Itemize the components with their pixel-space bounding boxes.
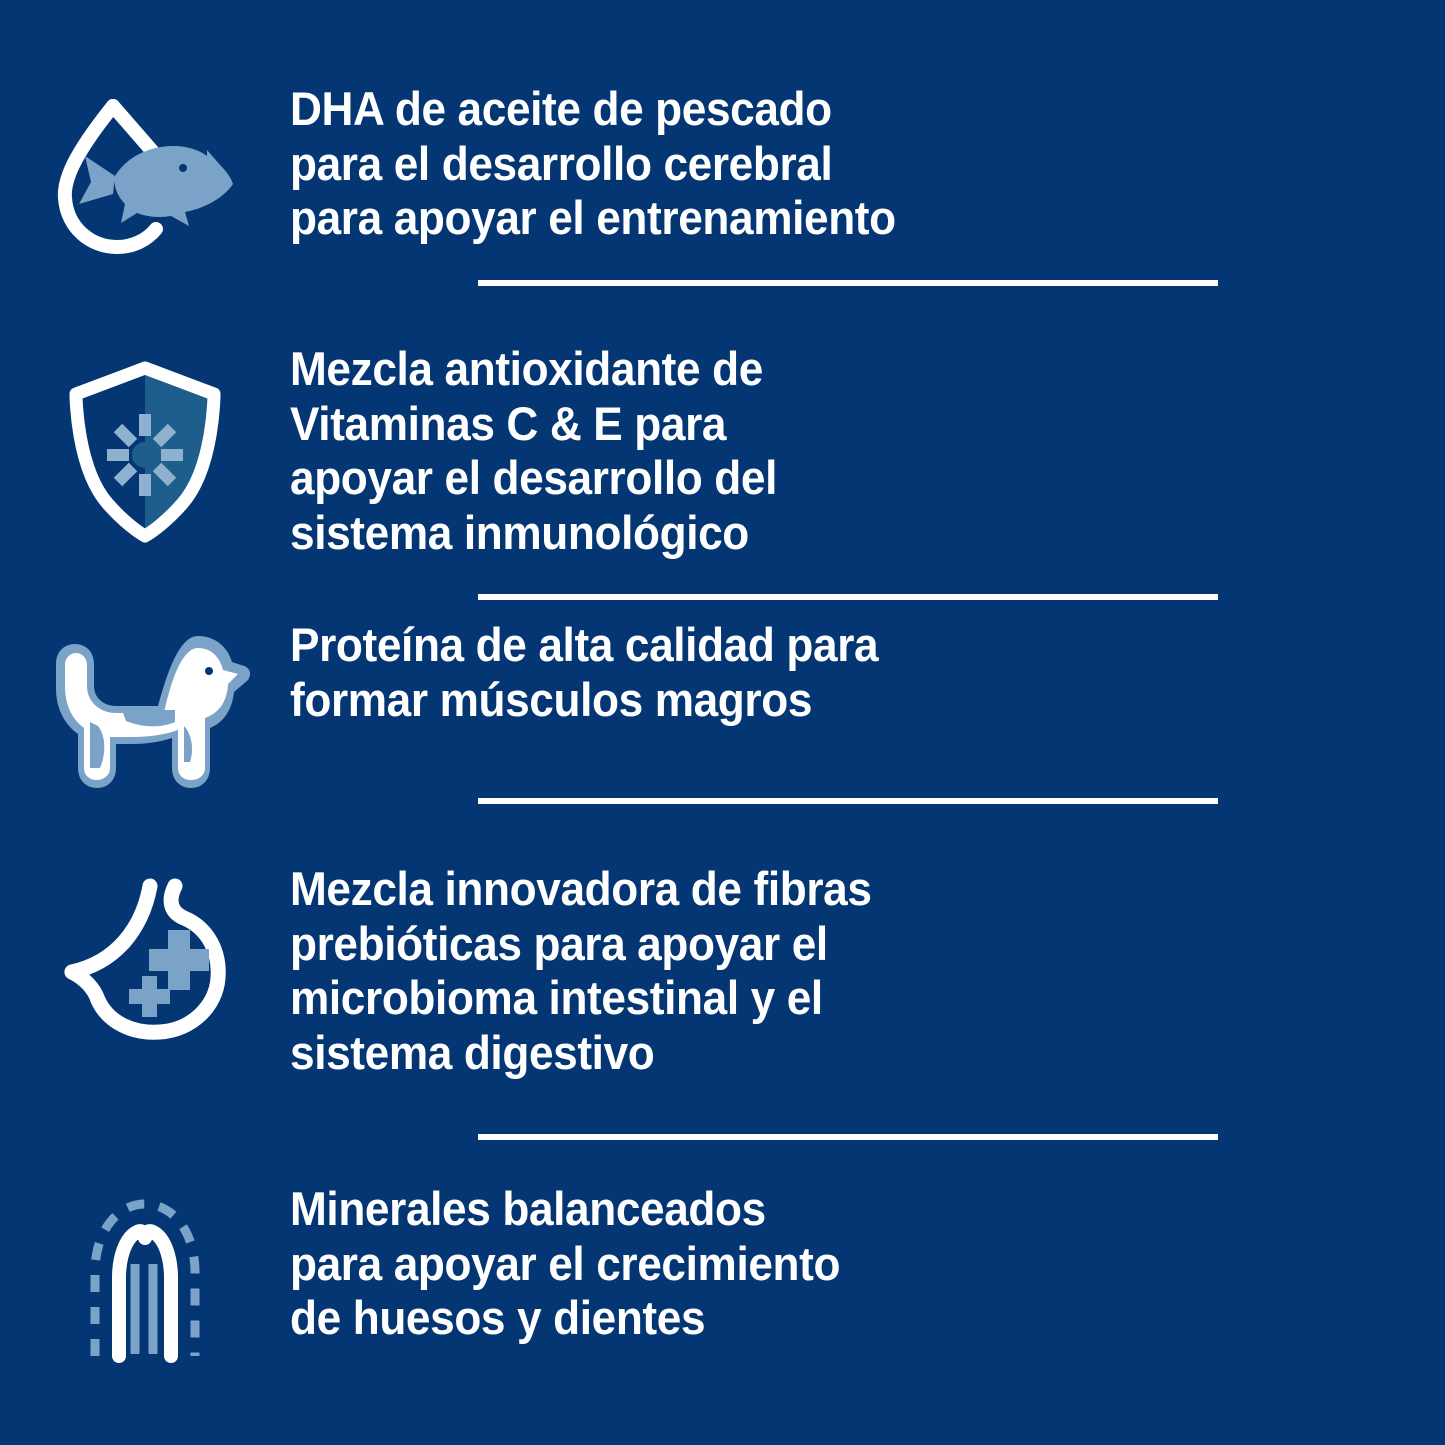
benefit-row-balanced-minerals: Minerales balanceados para apoyar el cre… (0, 1182, 1445, 1376)
section-divider (478, 594, 1218, 600)
benefit-text-balanced-minerals: Minerales balanceados para apoyar el cre… (290, 1182, 1207, 1346)
benefit-text-antioxidant-blend: Mezcla antioxidante de Vitaminas C & E p… (290, 342, 1207, 560)
benefit-row-antioxidant-blend: Mezcla antioxidante de Vitaminas C & E p… (0, 342, 1445, 560)
benefit-row-prebiotic-fiber-blend: Mezcla innovadora de fibras prebióticas … (0, 862, 1445, 1080)
benefit-text-cell: Minerales balanceados para apoyar el cre… (290, 1182, 1445, 1346)
benefit-text-cell: DHA de aceite de pescado para el desarro… (290, 82, 1445, 246)
section-divider (478, 1134, 1218, 1140)
stomach-plus-icon (50, 872, 240, 1047)
benefit-icon-cell (0, 82, 290, 259)
benefit-row-high-quality-protein: Proteína de alta calidad para formar mús… (0, 618, 1445, 798)
benefit-icon-cell (0, 862, 290, 1047)
section-divider (478, 280, 1218, 286)
water-drop-fish-icon (55, 84, 235, 259)
benefit-row-dha-fish-oil: DHA de aceite de pescado para el desarro… (0, 82, 1445, 259)
benefit-text-cell: Proteína de alta calidad para formar mús… (290, 618, 1445, 727)
bone-icon (65, 1186, 225, 1376)
benefit-text-cell: Mezcla antioxidante de Vitaminas C & E p… (290, 342, 1445, 560)
benefits-panel: DHA de aceite de pescado para el desarro… (0, 0, 1445, 1445)
benefit-icon-cell (0, 1182, 290, 1376)
benefit-text-high-quality-protein: Proteína de alta calidad para formar mús… (290, 618, 1207, 727)
shield-sunburst-icon (62, 358, 228, 544)
benefit-text-prebiotic-fiber-blend: Mezcla innovadora de fibras prebióticas … (290, 862, 1207, 1080)
section-divider (478, 798, 1218, 804)
benefit-icon-cell (0, 342, 290, 544)
benefit-text-dha-fish-oil: DHA de aceite de pescado para el desarro… (290, 82, 1207, 246)
benefit-icon-cell (0, 618, 290, 798)
dog-muscle-icon (38, 618, 253, 798)
benefit-text-cell: Mezcla innovadora de fibras prebióticas … (290, 862, 1445, 1080)
